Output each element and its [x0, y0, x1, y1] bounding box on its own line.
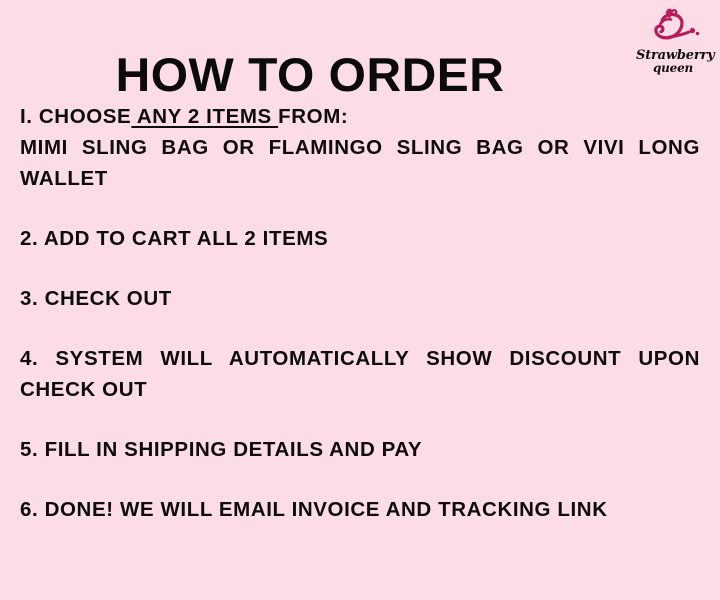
brand-logo: Strawberry queen	[636, 8, 710, 82]
step-1-trail: FROM:	[278, 105, 348, 128]
step-3: 3. CHECK OUT	[20, 283, 700, 314]
step-2: 2. ADD TO CART ALL 2 ITEMS	[20, 223, 700, 254]
steps-list: I. CHOOSE ANY 2 ITEMS FROM:MIMI SLING BA…	[20, 101, 700, 525]
step-5: 5. FILL IN SHIPPING DETAILS AND PAY	[20, 434, 700, 465]
strawberry-logo-icon	[644, 8, 702, 48]
logo-word-sub: queen	[636, 62, 710, 75]
step-1-body: MIMI SLING BAG OR FLAMINGO SLING BAG OR …	[20, 136, 700, 190]
step-1-lead: I. CHOOSE	[20, 105, 131, 128]
step-4: 4. SYSTEM WILL AUTOMATICALLY SHOW DISCOU…	[20, 343, 700, 405]
step-1-underlined: ANY 2 ITEMS	[131, 105, 278, 128]
step-6: 6. DONE! WE WILL EMAIL INVOICE AND TRACK…	[20, 494, 700, 525]
page-title: HOW TO ORDER	[0, 49, 626, 101]
how-to-order-poster: Strawberry queen HOW TO ORDER I. CHOOSE …	[0, 0, 720, 600]
step-1: I. CHOOSE ANY 2 ITEMS FROM:MIMI SLING BA…	[20, 101, 700, 194]
